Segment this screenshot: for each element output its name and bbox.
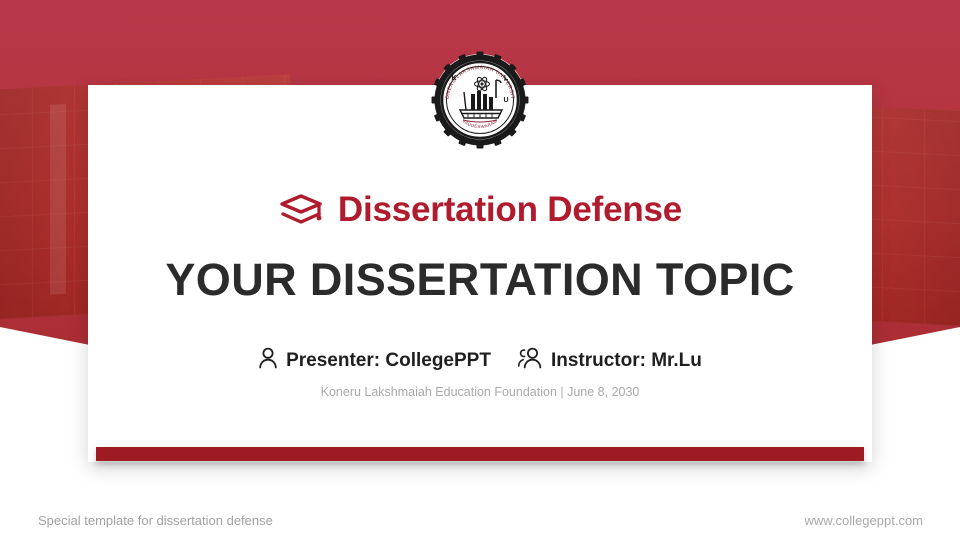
presenter-item: Presenter: CollegePPT	[258, 347, 491, 374]
slide-root: KONERU LAKSHMAIAH UNIVERSITY VADDESWARAM	[0, 0, 960, 540]
footer-left-text: Special template for dissertation defens…	[38, 513, 273, 528]
eyebrow-label: Dissertation Defense	[338, 192, 682, 227]
university-seal-icon: KONERU LAKSHMAIAH UNIVERSITY VADDESWARAM	[430, 50, 530, 150]
eyebrow-row: Dissertation Defense	[88, 192, 872, 227]
users-icon	[517, 347, 543, 374]
person-icon	[258, 347, 278, 374]
institution-date-line: Koneru Lakshmaiah Education Foundation |…	[88, 385, 872, 399]
footer-right-url: www.collegeppt.com	[805, 513, 924, 528]
svg-text:U: U	[503, 97, 508, 104]
svg-text:L: L	[504, 75, 509, 82]
page-title: YOUR DISSERTATION TOPIC	[88, 255, 872, 305]
instructor-item: Instructor: Mr.Lu	[517, 347, 702, 374]
people-row: Presenter: CollegePPT Instructor: Mr.Lu	[88, 347, 872, 374]
graduation-cap-icon	[278, 193, 324, 227]
instructor-label: Instructor: Mr.Lu	[551, 351, 702, 370]
card-accent-bar	[96, 447, 864, 461]
svg-text:K: K	[451, 75, 456, 82]
presenter-label: Presenter: CollegePPT	[286, 351, 491, 370]
